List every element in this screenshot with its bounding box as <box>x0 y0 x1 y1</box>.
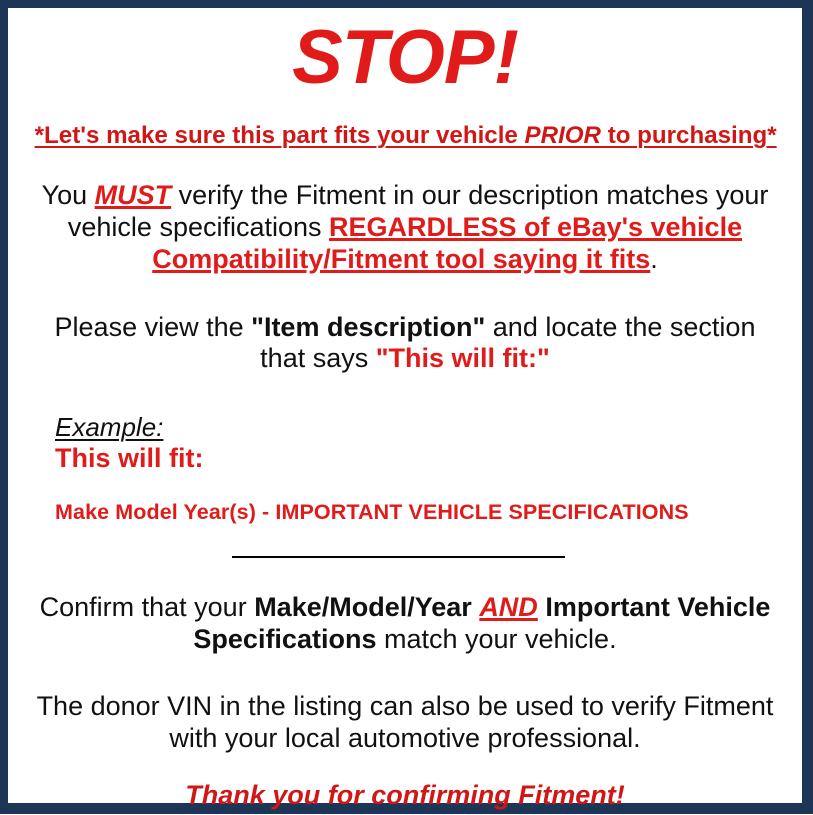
page-title: STOP! <box>29 20 781 96</box>
bold-item-description: "Item description" <box>251 312 485 342</box>
notice-content-area: STOP! *Let's make sure this part fits yo… <box>8 20 802 815</box>
example-block: Example: This will fit: Make Model Year(… <box>29 414 781 524</box>
vin-paragraph: The donor VIN in the listing can also be… <box>29 691 781 755</box>
horizontal-rule <box>232 556 565 558</box>
subtitle-text-part2: to purchasing* <box>601 122 777 149</box>
bold-make-model-year: Make/Model/Year <box>254 592 472 622</box>
thank-you-message: Thank you for confirming Fitment! <box>29 781 781 811</box>
example-spec-line: Make Model Year(s) - IMPORTANT VEHICLE S… <box>55 501 781 525</box>
must-verify-paragraph: You MUST verify the Fitment in our descr… <box>29 180 781 276</box>
example-fit-heading: This will fit: <box>55 444 781 473</box>
subtitle-banner: *Let's make sure this part fits your veh… <box>35 123 776 150</box>
emphasis-and: AND <box>479 592 538 622</box>
must-seg1: You <box>42 180 95 210</box>
confirm-seg1: Confirm that your <box>40 592 255 622</box>
emphasis-must: MUST <box>95 180 172 210</box>
divider <box>29 552 781 564</box>
confirm-paragraph: Confirm that your Make/Model/Year AND Im… <box>29 592 781 656</box>
subtitle-emphasis-prior: PRIOR <box>525 122 601 149</box>
view-description-paragraph: Please view the "Item description" and l… <box>29 312 781 376</box>
confirm-seg2: match your vehicle. <box>376 624 616 654</box>
fitment-notice-card: STOP! *Let's make sure this part fits yo… <box>0 0 813 814</box>
view-seg1: Please view the <box>55 312 252 342</box>
must-seg3: . <box>650 244 658 274</box>
subtitle-text-part1: *Let's make sure this part fits your veh… <box>35 122 525 149</box>
example-label: Example: <box>55 414 163 441</box>
red-this-will-fit-quote: "This will fit:" <box>376 343 550 373</box>
